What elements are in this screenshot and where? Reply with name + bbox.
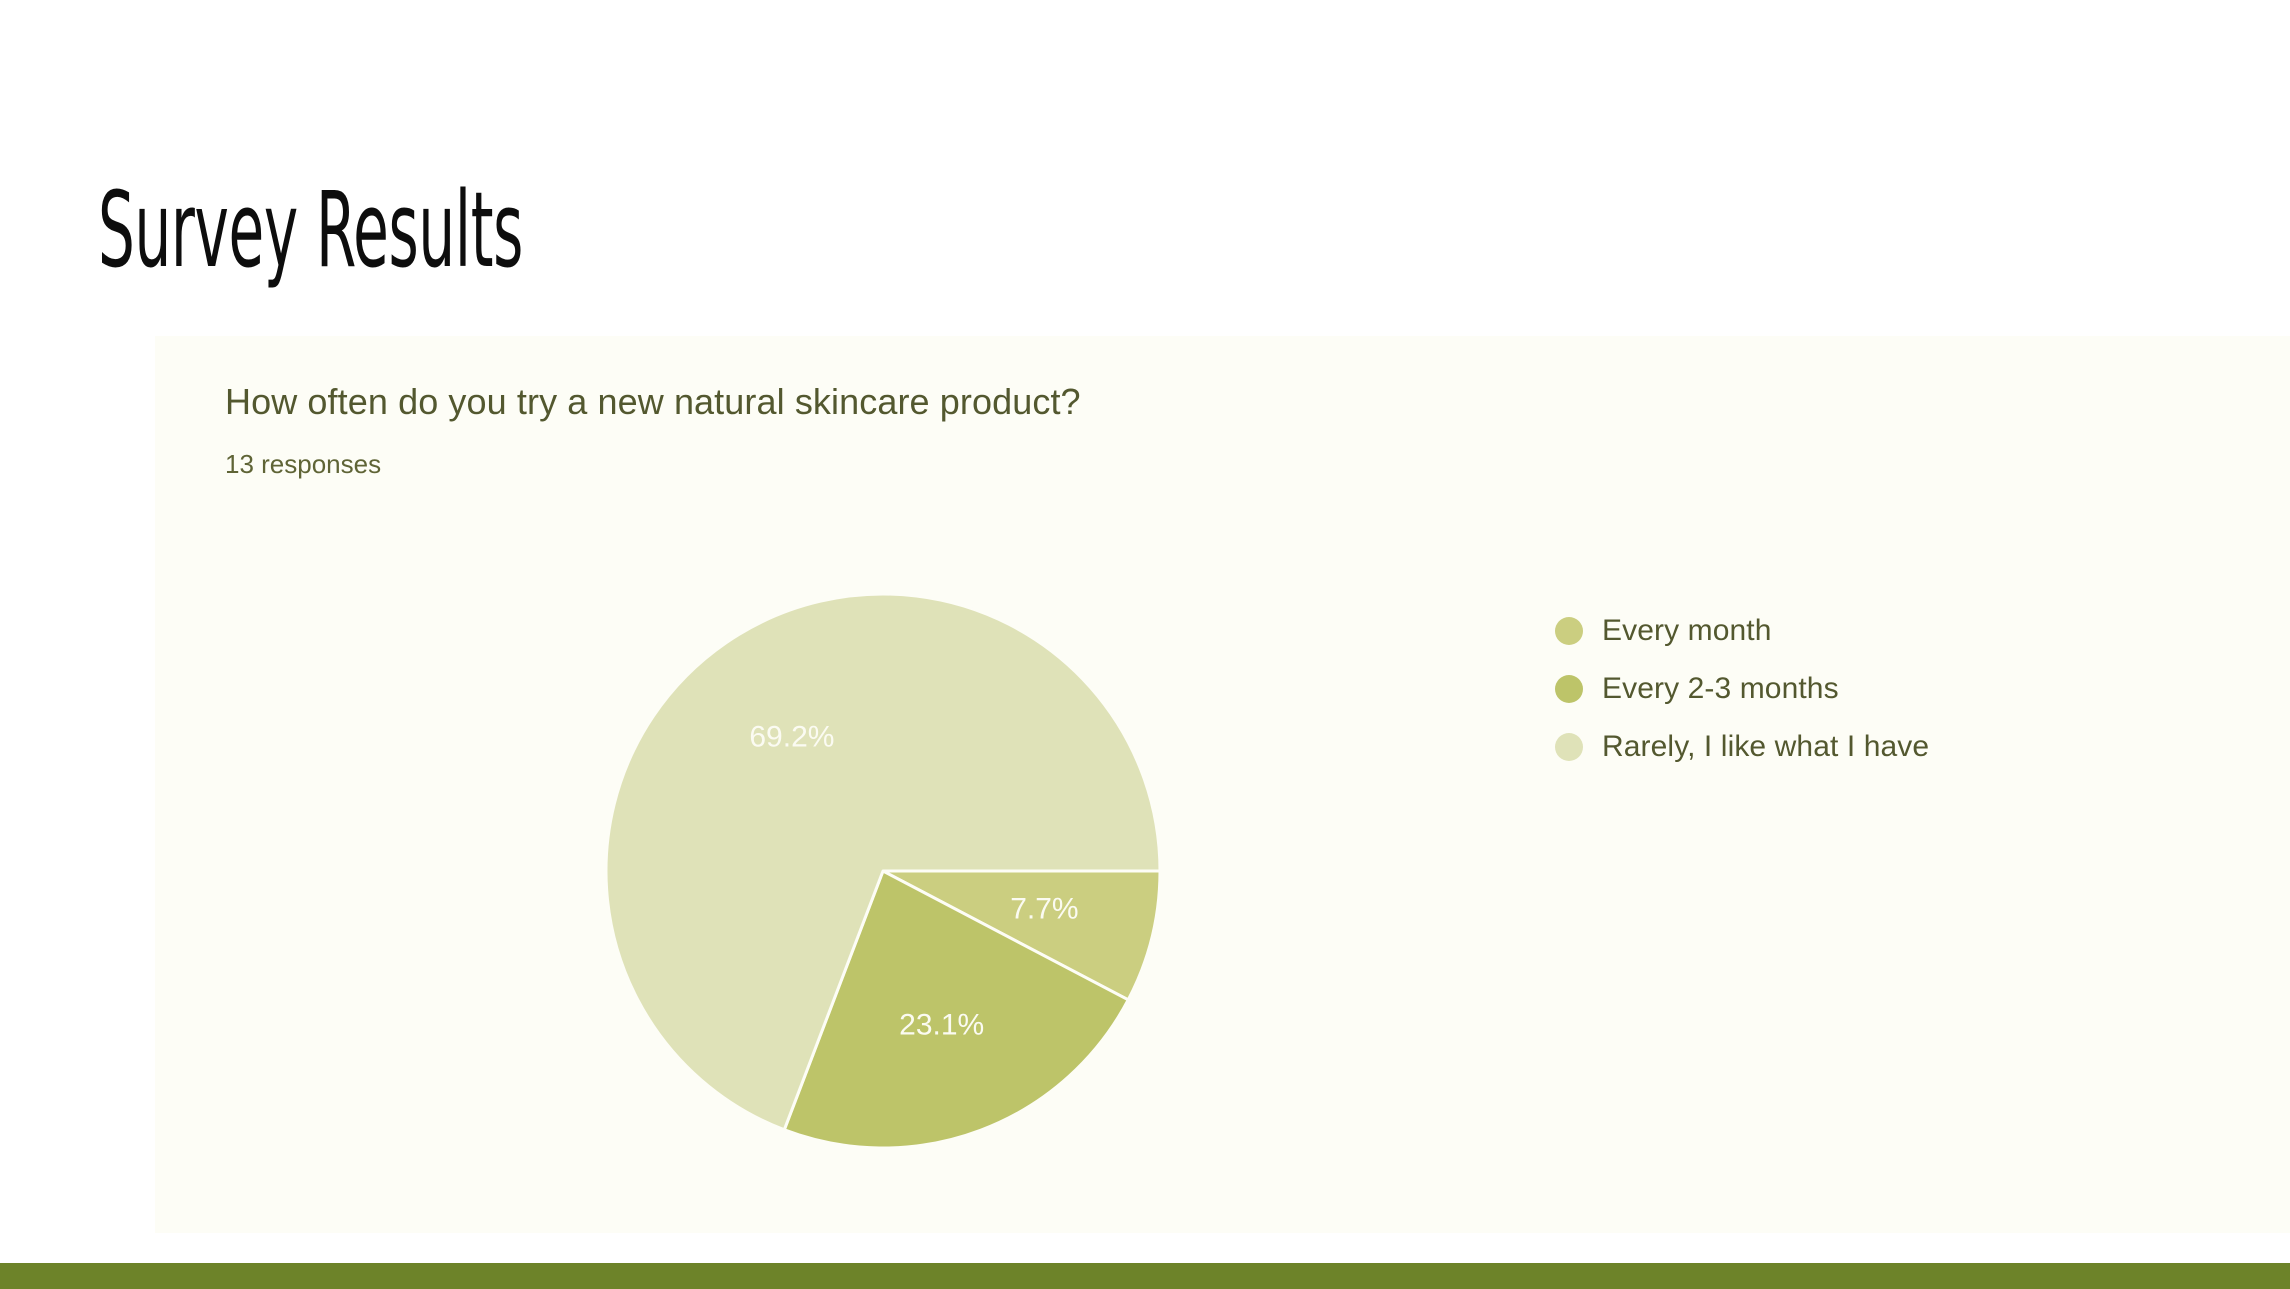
pie-slice-label: 69.2% xyxy=(749,721,834,754)
chart-card: How often do you try a new natural skinc… xyxy=(155,336,2290,1233)
pie-slice-group xyxy=(606,594,1160,1148)
chart-question-title: How often do you try a new natural skinc… xyxy=(225,381,1081,423)
pie-chart-svg: 7.7%23.1%69.2% xyxy=(603,591,1163,1151)
footer-accent-bar xyxy=(0,1263,2290,1289)
slide-canvas: Survey Results How often do you try a ne… xyxy=(0,0,2290,1289)
legend-swatch-icon xyxy=(1555,733,1583,761)
legend-item[interactable]: Every month xyxy=(1555,602,2155,660)
chart-response-count: 13 responses xyxy=(225,449,381,480)
legend-item[interactable]: Rarely, I like what I have xyxy=(1555,718,2155,776)
legend-item-label: Rarely, I like what I have xyxy=(1602,730,1929,764)
legend-item[interactable]: Every 2-3 months xyxy=(1555,660,2155,718)
chart-legend: Every month Every 2-3 months Rarely, I l… xyxy=(1555,602,2155,776)
legend-swatch-icon xyxy=(1555,675,1583,703)
legend-swatch-icon xyxy=(1555,617,1583,645)
legend-item-label: Every month xyxy=(1602,614,1772,648)
pie-chart: 7.7%23.1%69.2% xyxy=(603,591,1163,1151)
page-title: Survey Results xyxy=(98,178,523,282)
pie-slice-label: 23.1% xyxy=(899,1008,984,1041)
pie-slice-label: 7.7% xyxy=(1010,893,1078,926)
legend-item-label: Every 2-3 months xyxy=(1602,672,1839,706)
